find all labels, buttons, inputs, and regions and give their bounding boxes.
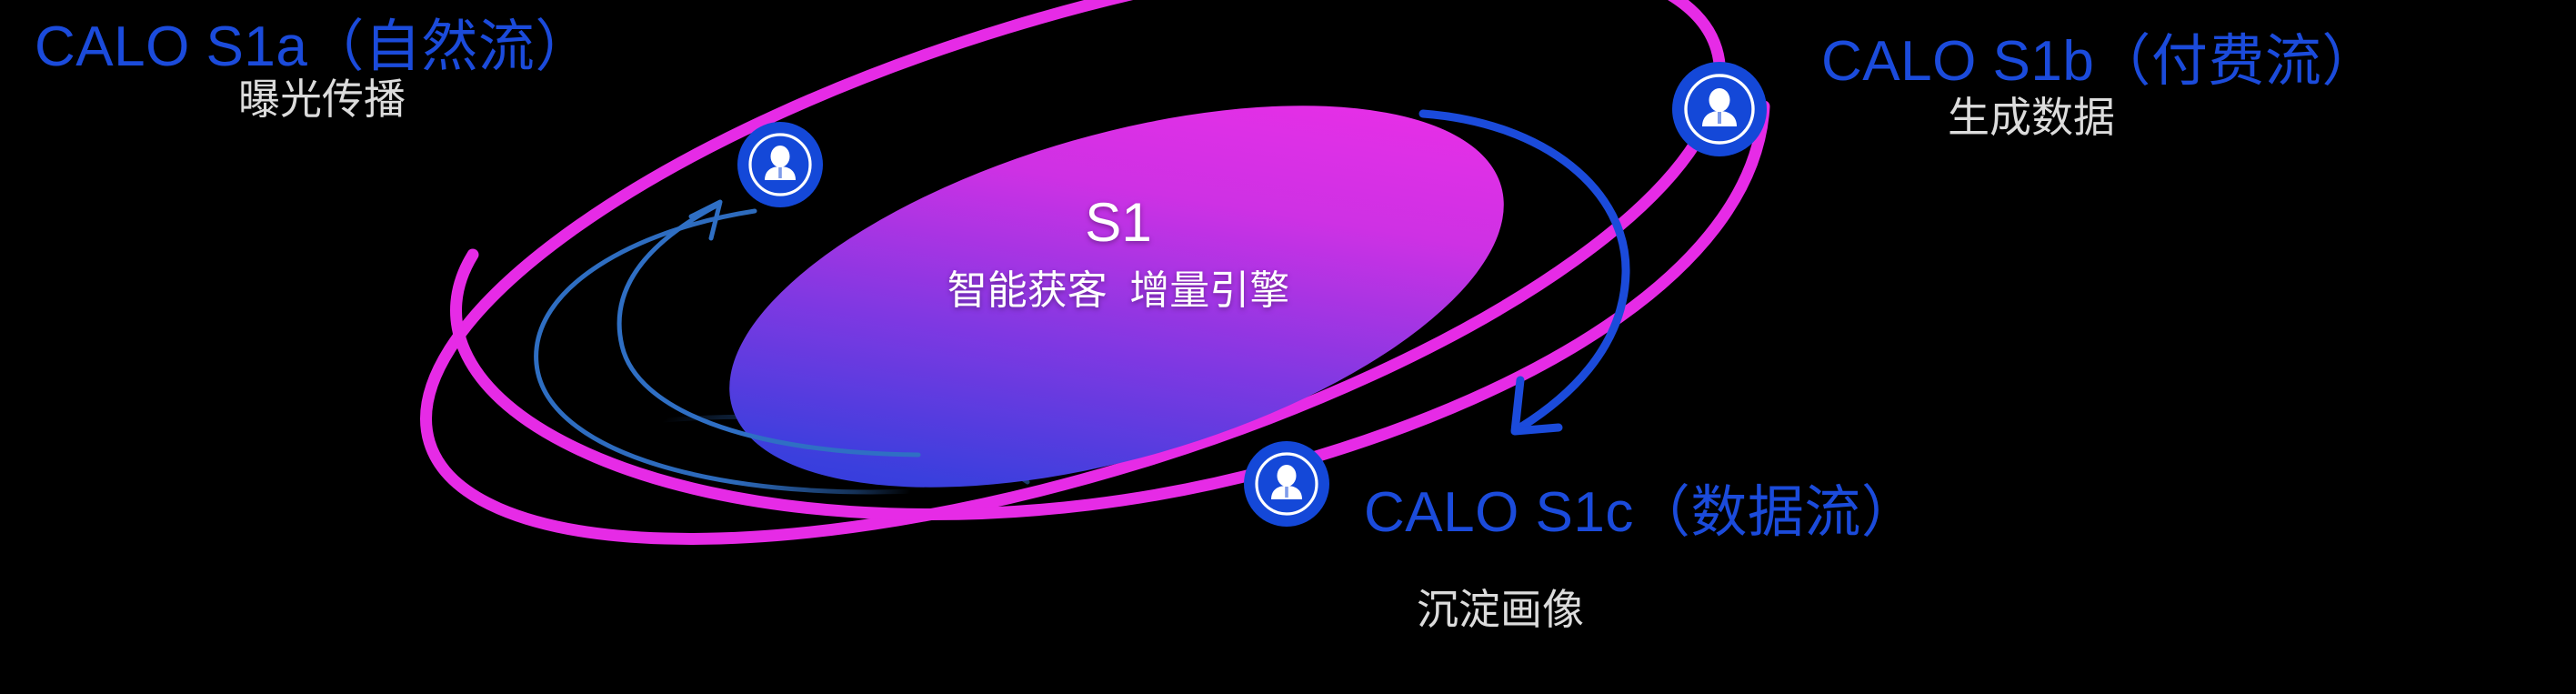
node-s1b[interactable] bbox=[1672, 62, 1767, 156]
flow-s1c-subtitle: 沉淀画像 bbox=[1417, 587, 1584, 633]
node-s1c[interactable] bbox=[1244, 441, 1329, 527]
flow-s1a-title: CALO S1a（自然流） bbox=[35, 16, 592, 78]
flow-s1c-title: CALO S1c（数据流） bbox=[1364, 482, 1918, 544]
core-subtitle: 智能获客 增量引擎 bbox=[846, 269, 1391, 313]
core-title: S1 bbox=[982, 193, 1255, 253]
flow-s1a-subtitle: 曝光传播 bbox=[238, 76, 406, 123]
diagram-canvas: S1 智能获客 增量引擎 CALO S1a（自然流） 曝光传播 CALO S1b… bbox=[0, 0, 2576, 694]
node-s1a[interactable] bbox=[737, 122, 823, 207]
flow-s1b-title: CALO S1b（付费流） bbox=[1821, 31, 2379, 93]
flow-s1b-subtitle: 生成数据 bbox=[1948, 95, 2115, 141]
